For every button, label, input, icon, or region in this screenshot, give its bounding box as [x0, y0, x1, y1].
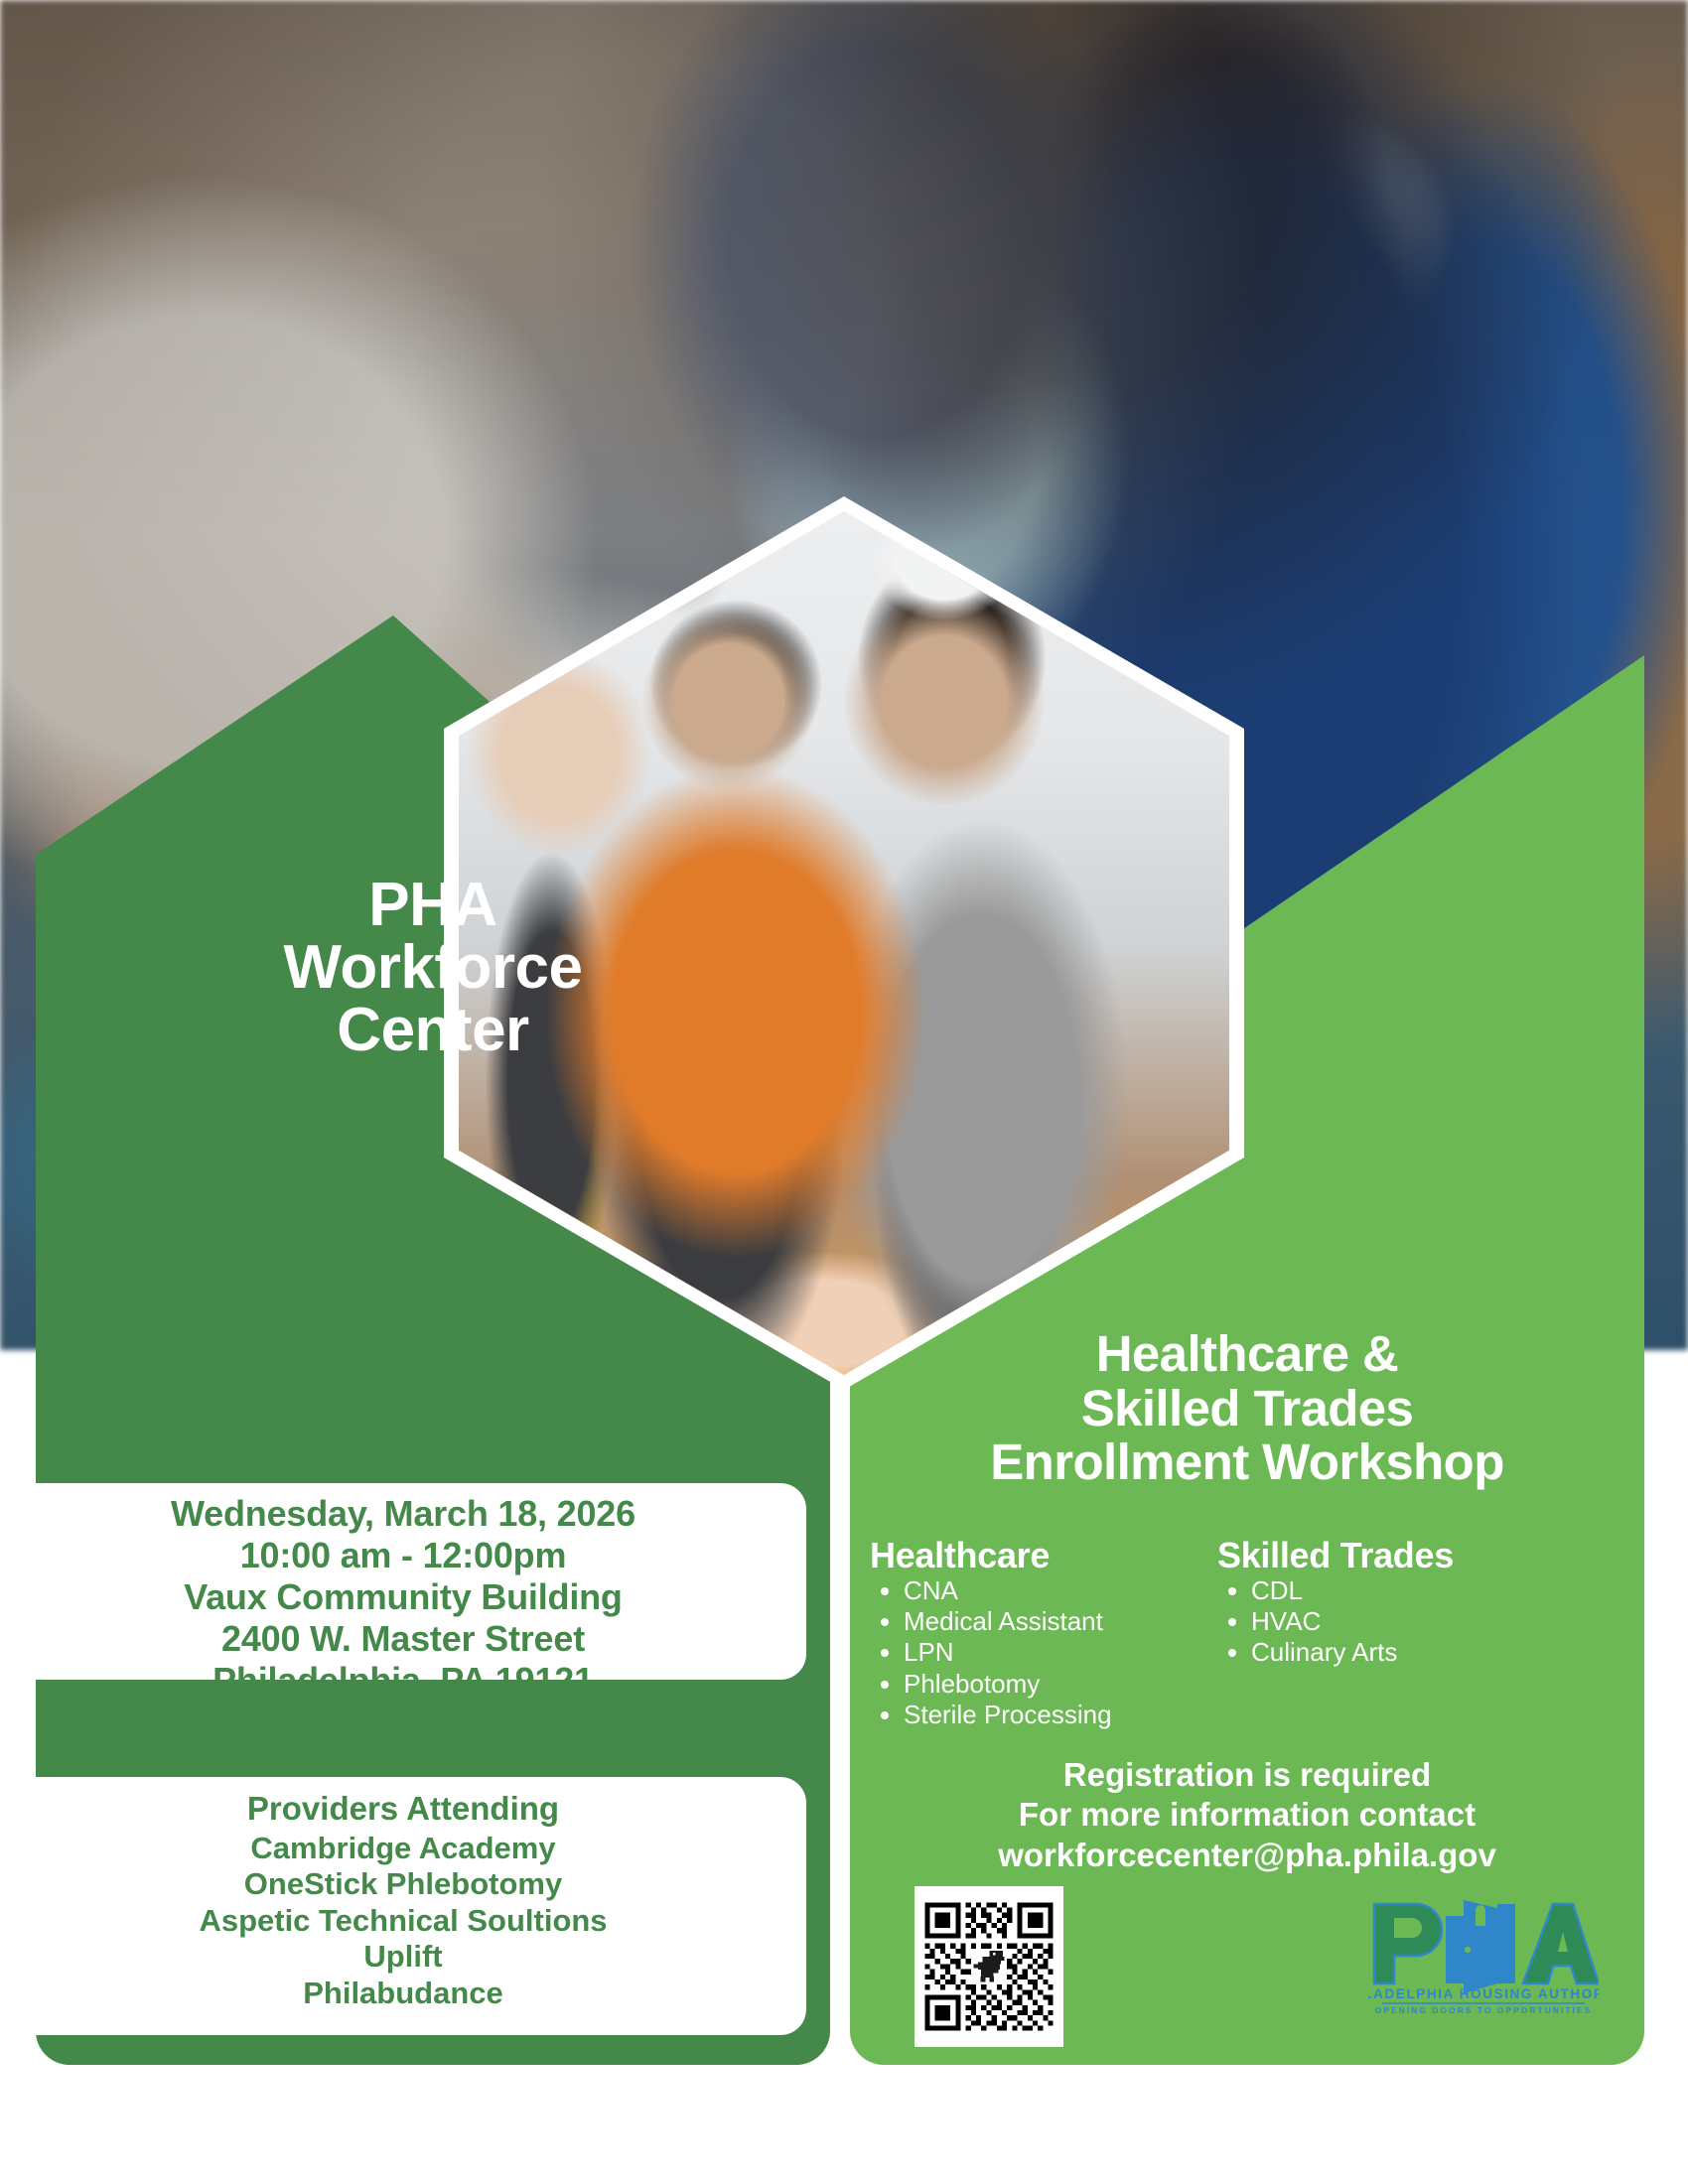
registration-qr-code[interactable] [914, 1886, 1063, 2047]
provider-item: Cambridge Academy [0, 1831, 806, 1867]
logo-letter-a [1523, 1904, 1599, 1983]
event-date: Wednesday, March 18, 2026 [0, 1493, 806, 1535]
track-healthcare-list: CNA Medical Assistant LPN Phlebotomy Ste… [870, 1575, 1217, 1730]
track-item: CNA [904, 1575, 1217, 1606]
track-skilled-trades-list: CDL HVAC Culinary Arts [1217, 1575, 1545, 1669]
event-details-card: Wednesday, March 18, 2026 10:00 am - 12:… [0, 1483, 806, 1680]
track-healthcare-heading: Healthcare [870, 1538, 1217, 1573]
more-information-text: For more information contact [850, 1795, 1644, 1835]
workshop-title-line-2: Skilled Trades [850, 1382, 1644, 1436]
logo-letter-p [1374, 1904, 1442, 1983]
track-item: Medical Assistant [904, 1606, 1217, 1637]
logo-org-name: PHILADELPHIA HOUSING AUTHORITY [1368, 1986, 1599, 2001]
page-title: PHA Workforce Center [36, 874, 830, 1062]
qr-code-icon [914, 1886, 1063, 2047]
event-venue: Vaux Community Building [0, 1576, 806, 1618]
program-tracks: Healthcare CNA Medical Assistant LPN Phl… [870, 1538, 1644, 1730]
logo-letter-h-door [1446, 1900, 1515, 1993]
page-title-line-2: Workforce [36, 936, 830, 999]
track-item: CDL [1251, 1575, 1545, 1606]
track-healthcare: Healthcare CNA Medical Assistant LPN Phl… [870, 1538, 1217, 1730]
event-city-state-zip: Philadelphia, PA 19121 [0, 1660, 806, 1702]
provider-item: Philabudance [0, 1976, 806, 2012]
track-item: Phlebotomy [904, 1669, 1217, 1700]
pha-logo: PHILADELPHIA HOUSING AUTHORITY [1368, 1898, 1599, 2009]
providers-card: Providers Attending Cambridge Academy On… [0, 1777, 806, 2035]
workshop-title: Healthcare & Skilled Trades Enrollment W… [850, 1327, 1644, 1490]
event-street: 2400 W. Master Street [0, 1618, 806, 1660]
workshop-title-line-3: Enrollment Workshop [850, 1435, 1644, 1490]
logo-tagline: OPENING DOORS TO OPPORTUNITIES [1368, 2005, 1599, 2015]
track-skilled-trades-heading: Skilled Trades [1217, 1538, 1545, 1573]
provider-item: Aspetic Technical Soultions [0, 1903, 806, 1940]
registration-info: Registration is required For more inform… [850, 1755, 1644, 1875]
workshop-title-line-1: Healthcare & [850, 1327, 1644, 1382]
contact-email[interactable]: workforcecenter@pha.phila.gov [850, 1836, 1644, 1875]
page-title-line-3: Center [36, 999, 830, 1061]
track-item: Culinary Arts [1251, 1637, 1545, 1668]
track-item: LPN [904, 1637, 1217, 1668]
track-item: Sterile Processing [904, 1700, 1217, 1730]
flyer-canvas: PHA Workforce Center Wednesday, March 18… [0, 0, 1688, 2184]
registration-required-text: Registration is required [850, 1755, 1644, 1795]
providers-heading: Providers Attending [0, 1789, 806, 1829]
provider-item: OneStick Phlebotomy [0, 1866, 806, 1903]
pha-logo-icon: PHILADELPHIA HOUSING AUTHORITY [1368, 1898, 1599, 2009]
track-item: HVAC [1251, 1606, 1545, 1637]
page-title-line-1: PHA [36, 874, 830, 936]
track-skilled-trades: Skilled Trades CDL HVAC Culinary Arts [1217, 1538, 1545, 1730]
provider-item: Uplift [0, 1939, 806, 1976]
event-time: 10:00 am - 12:00pm [0, 1535, 806, 1576]
